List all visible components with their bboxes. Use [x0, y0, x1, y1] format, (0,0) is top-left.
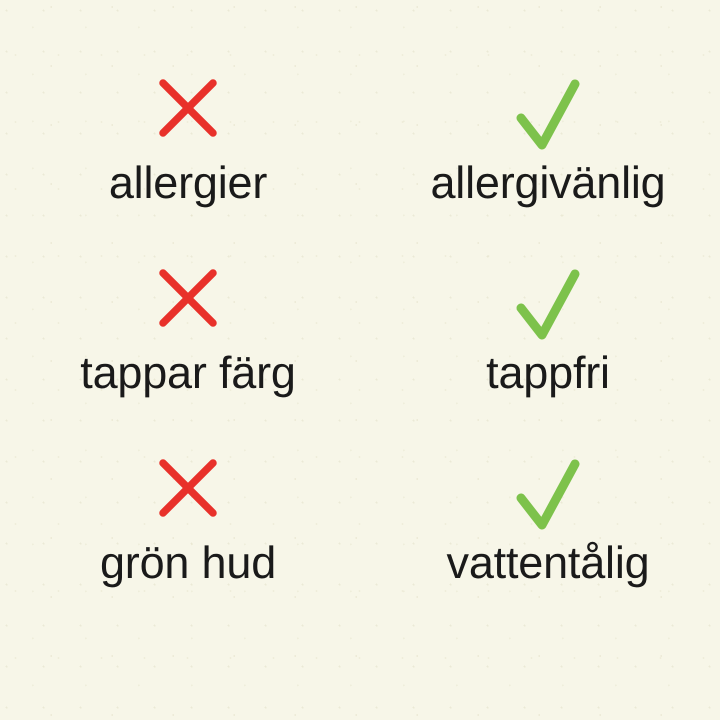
- comparison-cell-negative: tappar färg: [0, 250, 376, 440]
- cross-icon: [156, 266, 220, 330]
- comparison-board: allergier allergivänlig: [0, 0, 720, 720]
- comparison-rows: allergier allergivänlig: [0, 0, 720, 720]
- check-icon: [514, 266, 582, 346]
- comparison-row: tappar färg tappfri: [0, 250, 720, 440]
- cross-icon-slot: [156, 440, 220, 528]
- check-icon: [514, 76, 582, 156]
- cross-icon: [156, 456, 220, 520]
- check-icon-slot: [514, 440, 582, 528]
- comparison-label-negative: allergier: [109, 160, 267, 205]
- comparison-cell-negative: grön hud: [0, 440, 376, 630]
- comparison-cell-positive: tappfri: [376, 250, 720, 440]
- comparison-cell-positive: allergivänlig: [376, 60, 720, 250]
- comparison-cell-negative: allergier: [0, 60, 376, 250]
- comparison-label-positive: tappfri: [486, 350, 610, 395]
- cross-icon-slot: [156, 250, 220, 338]
- comparison-row: grön hud vattentålig: [0, 440, 720, 630]
- comparison-cell-positive: vattentålig: [376, 440, 720, 630]
- check-icon-slot: [514, 250, 582, 338]
- comparison-row: allergier allergivänlig: [0, 60, 720, 250]
- cross-icon-slot: [156, 60, 220, 148]
- comparison-label-positive: allergivänlig: [430, 160, 665, 205]
- comparison-label-negative: grön hud: [100, 540, 276, 585]
- check-icon: [514, 456, 582, 536]
- comparison-label-negative: tappar färg: [80, 350, 295, 395]
- cross-icon: [156, 76, 220, 140]
- check-icon-slot: [514, 60, 582, 148]
- comparison-label-positive: vattentålig: [447, 540, 650, 585]
